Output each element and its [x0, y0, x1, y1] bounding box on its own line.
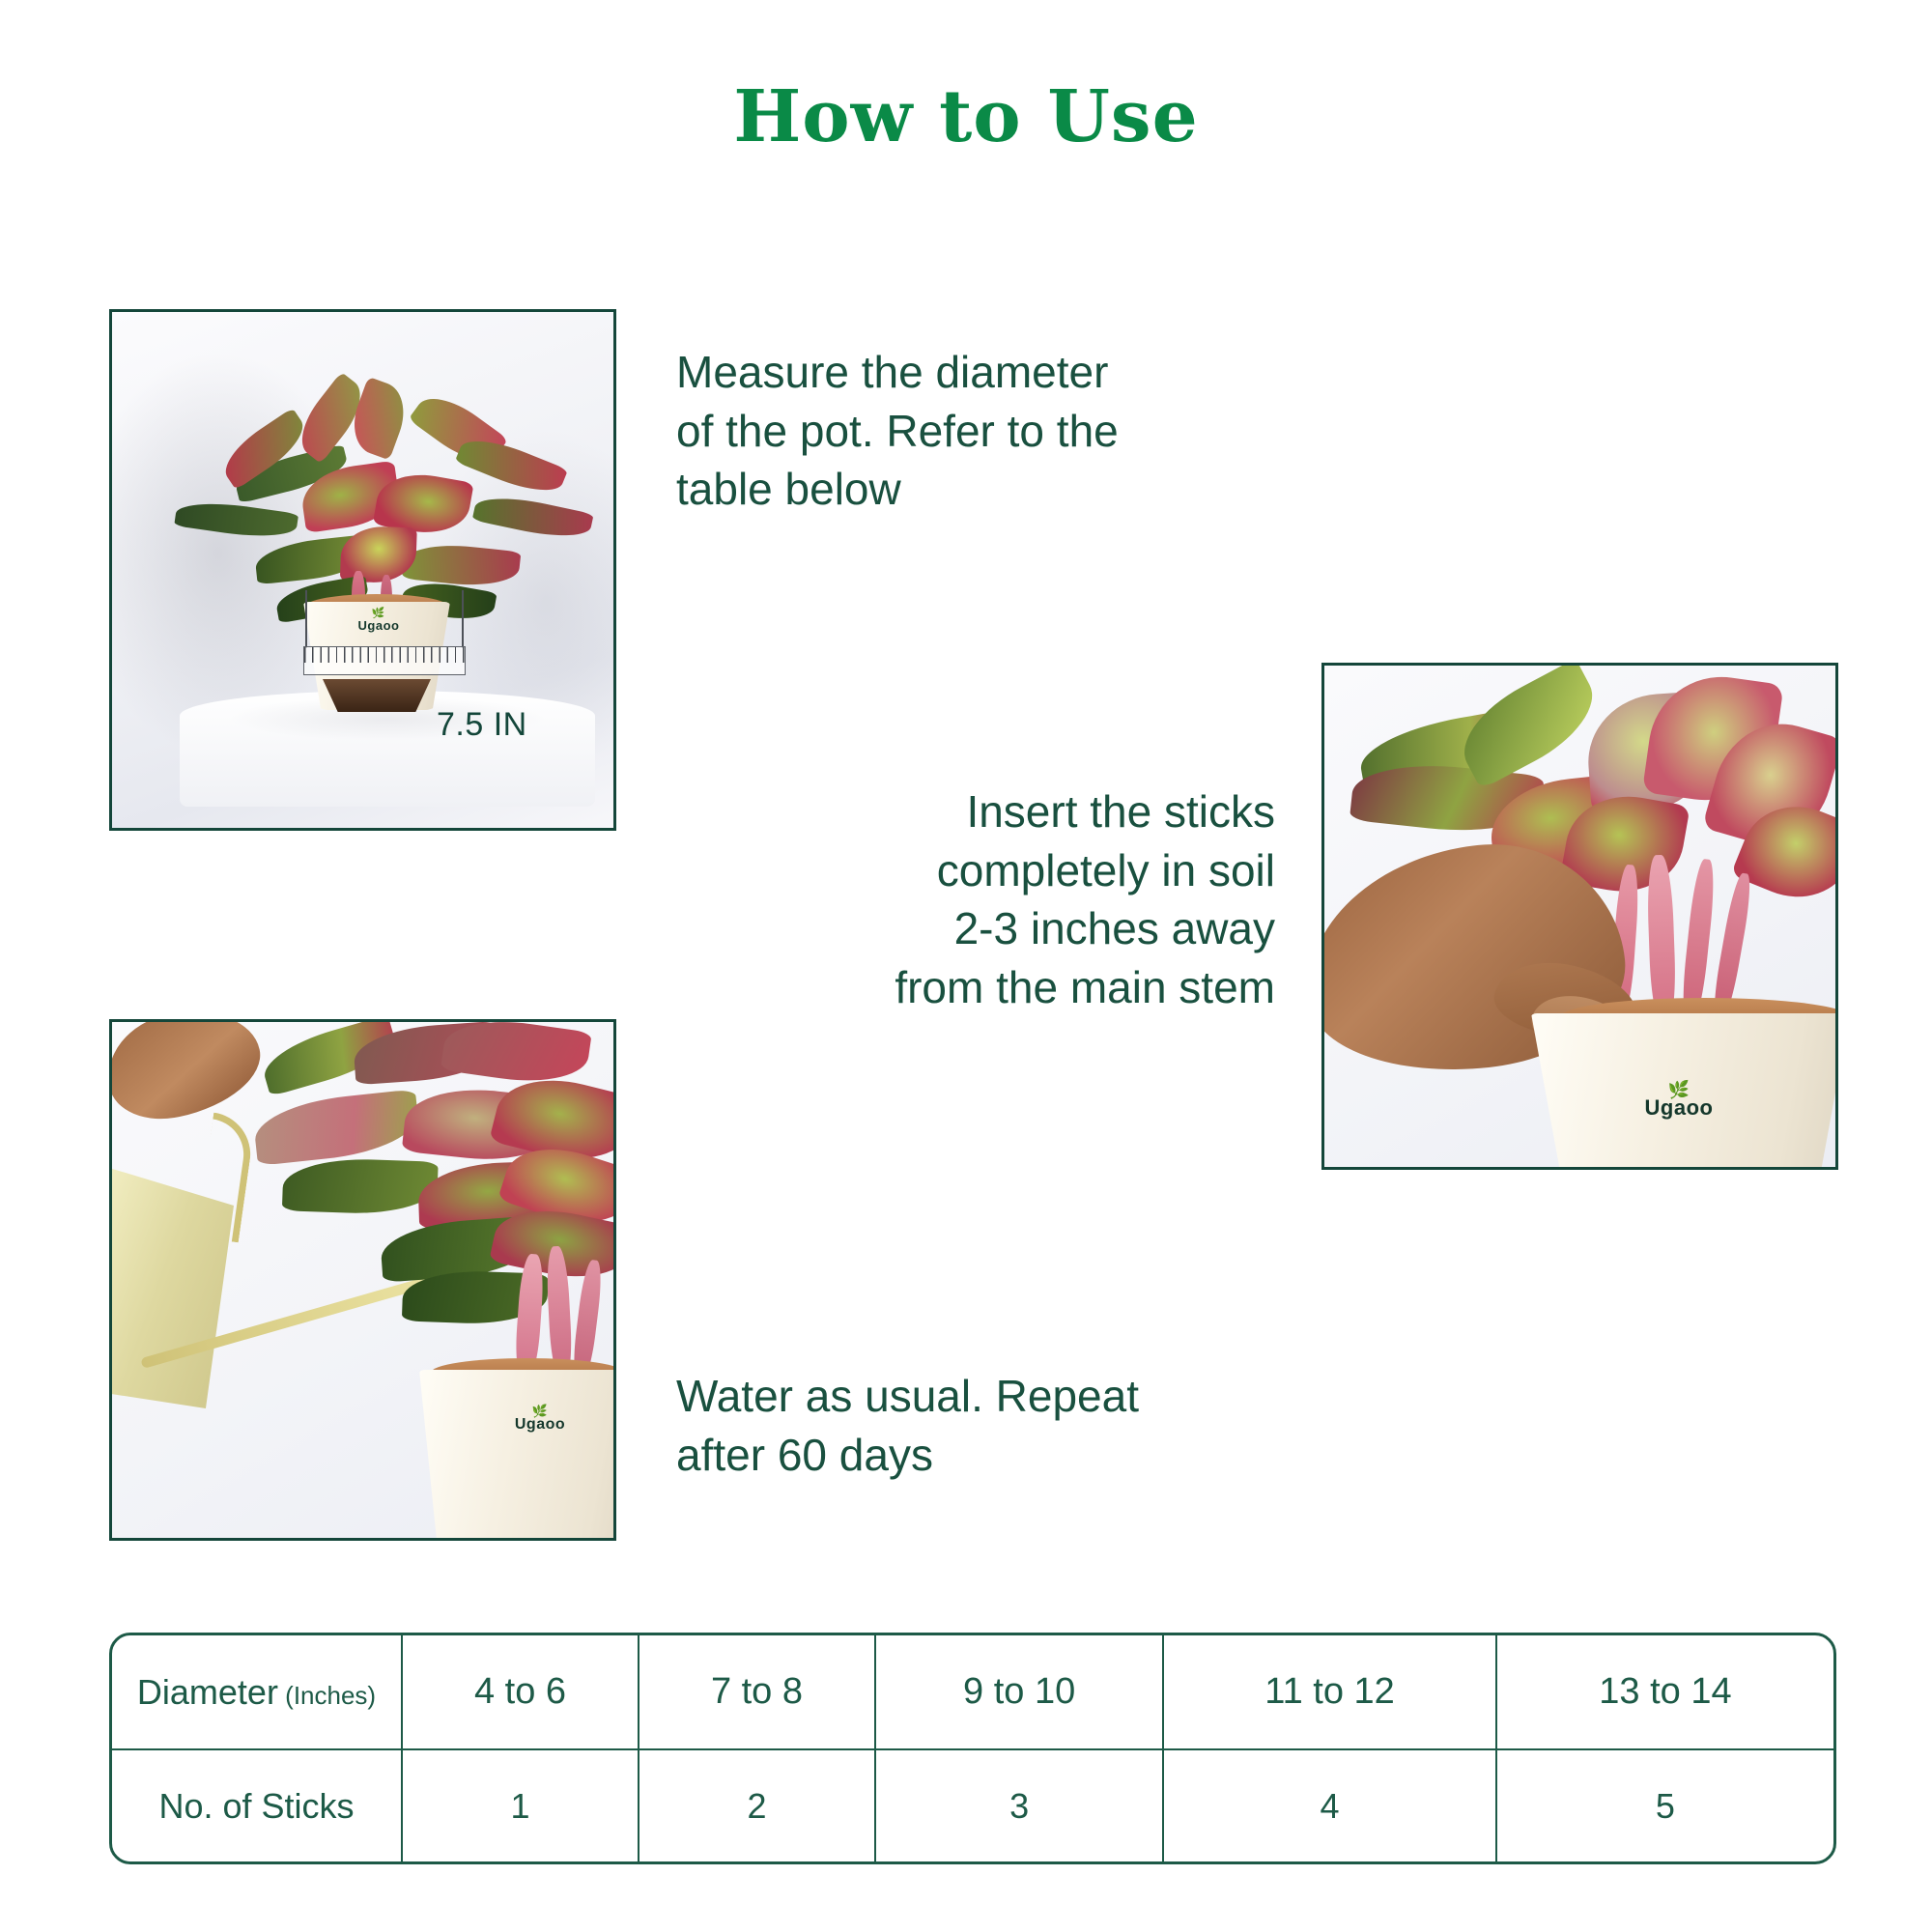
- row-label-diameter-unit: (Inches): [278, 1681, 376, 1710]
- brand-name: Ugaoo: [515, 1416, 565, 1433]
- diameter-cell-2: 7 to 8: [639, 1635, 875, 1749]
- diameter-cell-5: 13 to 14: [1496, 1635, 1833, 1749]
- ruler-guide-left: [305, 590, 307, 648]
- step-measure-text: Measure the diameter of the pot. Refer t…: [676, 343, 1294, 519]
- brand-logo-photo2: 🌿 Ugaoo: [1606, 1083, 1751, 1119]
- ruler-overlay: [301, 602, 468, 683]
- row-label-sticks-main: No. of Sticks: [158, 1786, 354, 1826]
- pot-size-to-stick-count-table: Diameter (Inches) 4 to 6 7 to 8 9 to 10 …: [109, 1633, 1836, 1864]
- sticks-cell-2: 2: [639, 1749, 875, 1861]
- sticks-cell-1: 1: [402, 1749, 639, 1861]
- step-water-text: Water as usual. Repeat after 60 days: [676, 1367, 1294, 1484]
- page-title: How to Use: [0, 75, 1932, 158]
- ruler-tick-marks: [304, 647, 465, 663]
- diameter-cell-1: 4 to 6: [402, 1635, 639, 1749]
- ruler-guide-right: [462, 590, 464, 648]
- photo-measure-pot-diameter: 🌿 Ugaoo: [109, 309, 616, 831]
- diameter-cell-4: 11 to 12: [1163, 1635, 1496, 1749]
- measure-scene: 🌿 Ugaoo: [112, 312, 613, 828]
- ruler-body: [303, 646, 466, 675]
- sprout-icon: 🌿: [1606, 1083, 1751, 1096]
- pot-diameter-label: 7.5 IN: [437, 706, 527, 744]
- sprout-icon: 🌿: [487, 1406, 593, 1416]
- brand-logo-photo3: 🌿 Ugaoo: [487, 1406, 593, 1433]
- how-to-use-infographic: How to Use: [0, 0, 1932, 1932]
- row-label-sticks: No. of Sticks: [112, 1749, 402, 1861]
- row-label-diameter: Diameter (Inches): [112, 1635, 402, 1749]
- brand-name: Ugaoo: [1645, 1095, 1714, 1120]
- water-scene: 🌿 Ugaoo: [112, 1022, 613, 1538]
- photo-water-plant: 🌿 Ugaoo: [109, 1019, 616, 1541]
- sticks-cell-3: 3: [875, 1749, 1163, 1861]
- row-label-diameter-main: Diameter: [137, 1672, 278, 1712]
- insert-scene: 🌿 Ugaoo: [1324, 666, 1835, 1167]
- sticks-cell-5: 5: [1496, 1749, 1833, 1861]
- table-row-sticks: No. of Sticks 1 2 3 4 5: [112, 1749, 1833, 1861]
- table-row-diameter: Diameter (Inches) 4 to 6 7 to 8 9 to 10 …: [112, 1635, 1833, 1749]
- sticks-cell-4: 4: [1163, 1749, 1496, 1861]
- diameter-cell-3: 9 to 10: [875, 1635, 1163, 1749]
- pot-base-dark: [323, 679, 431, 712]
- photo-insert-stick: 🌿 Ugaoo: [1321, 663, 1838, 1170]
- step-insert-text: Insert the sticks completely in soil 2-3…: [734, 782, 1275, 1017]
- plant-pot: [419, 1370, 616, 1541]
